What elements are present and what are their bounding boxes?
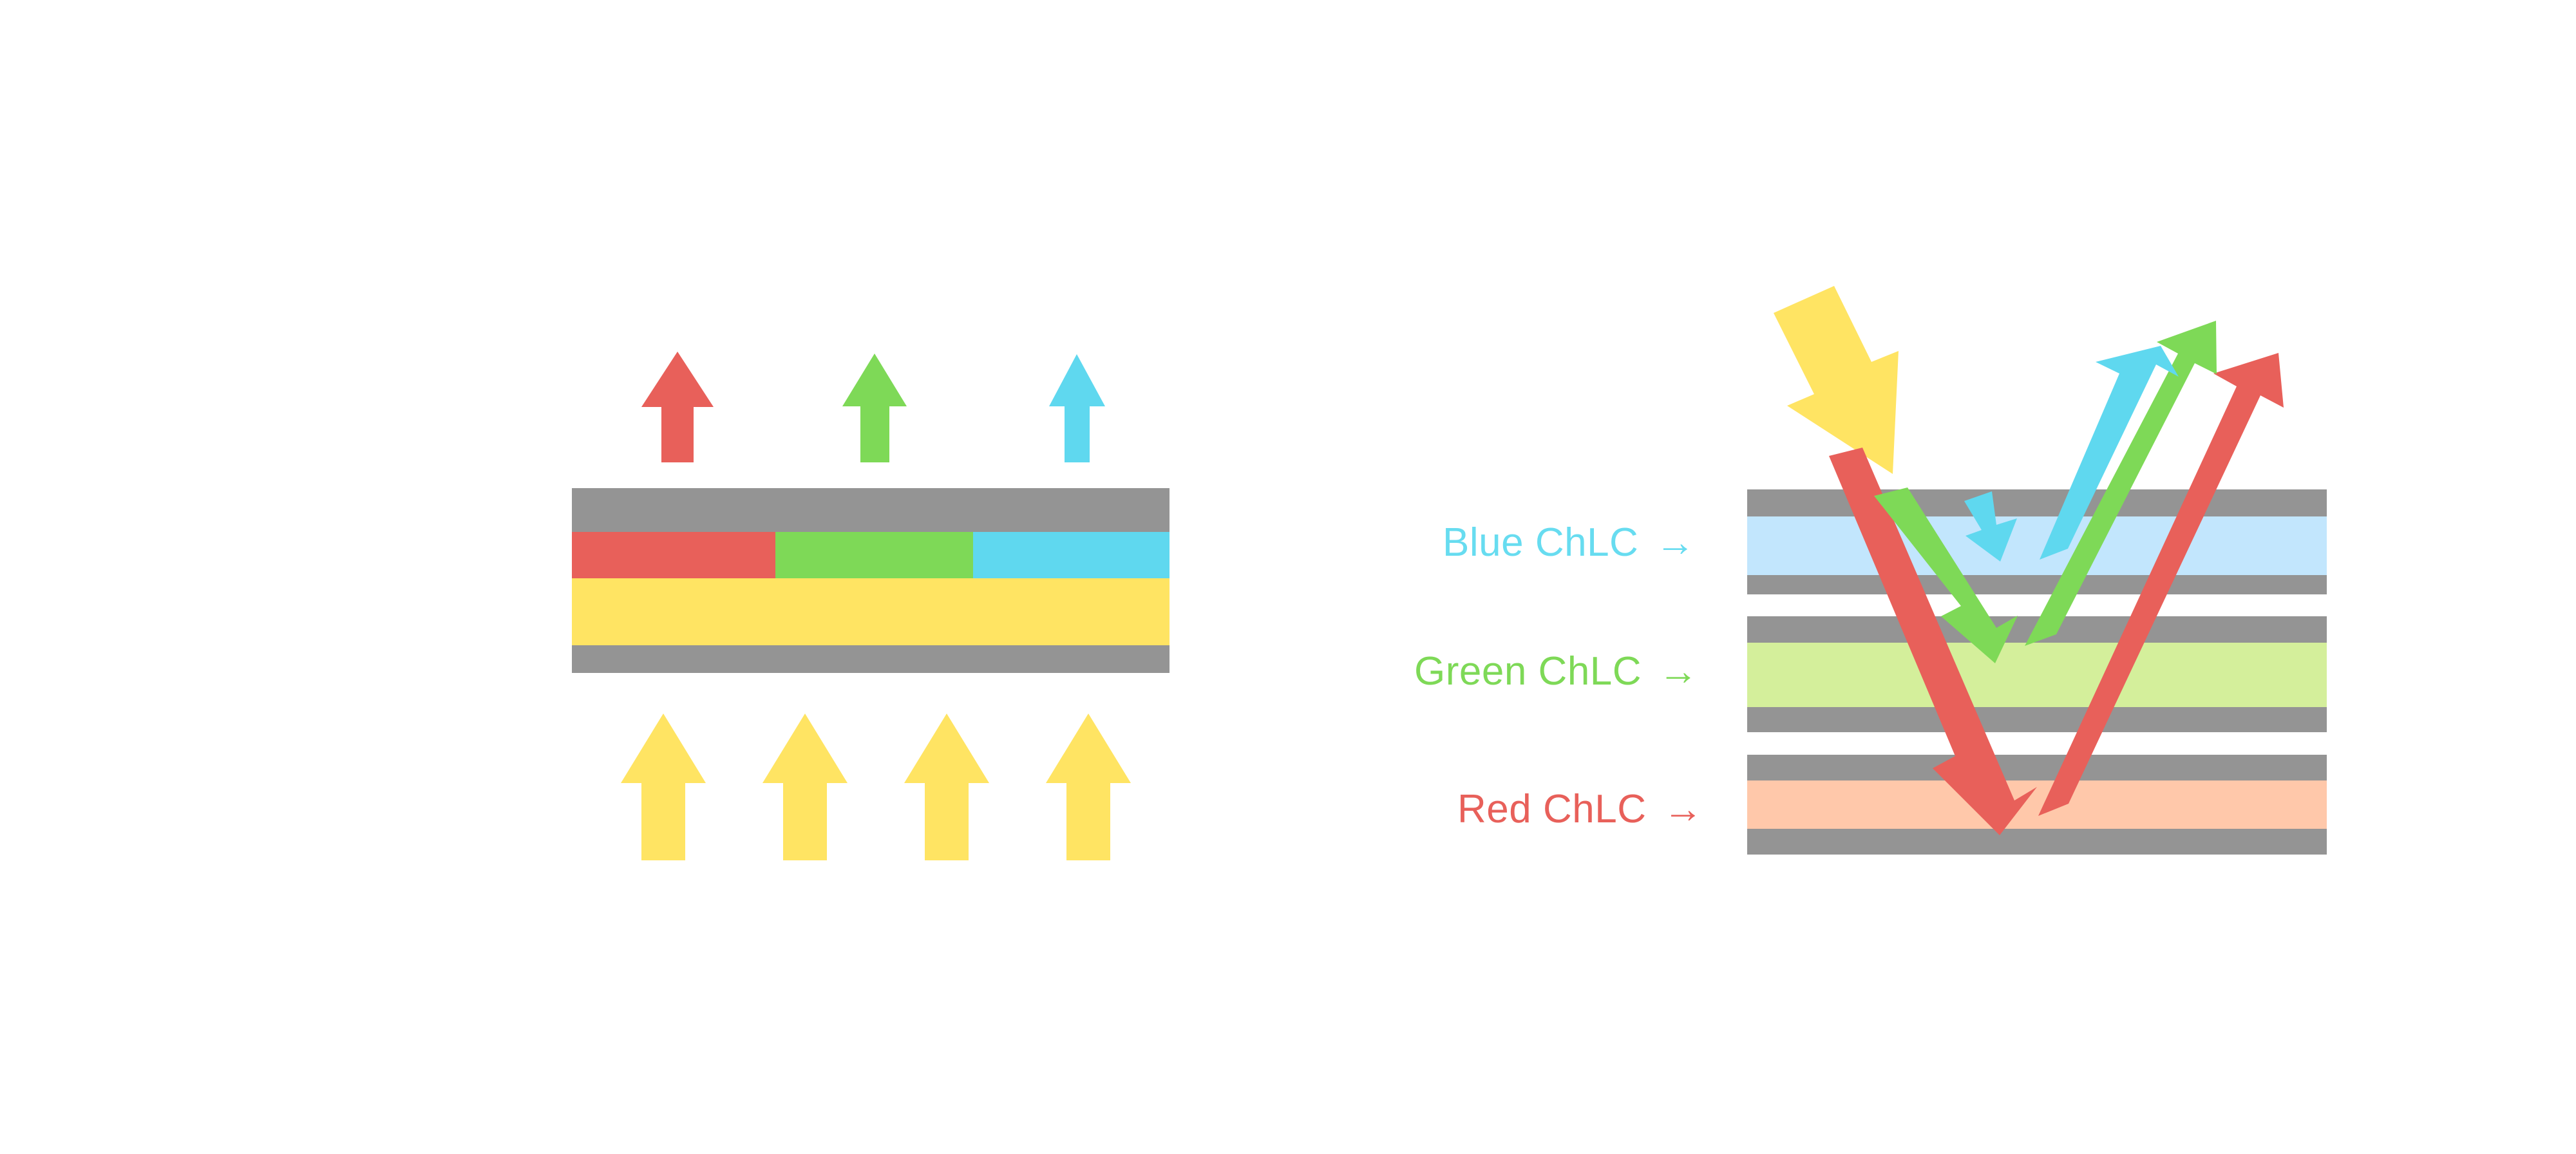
blue-chlc-label-arrow-icon: →: [1655, 520, 1696, 565]
green-bottom-electrode: [1747, 707, 2327, 732]
red-chlc-label: Red ChLC→: [1457, 790, 1703, 829]
blue-bottom-electrode: [1747, 575, 2327, 594]
chlc-stack: [1747, 489, 2327, 855]
blue-chlc-label-text: Blue ChLC: [1443, 520, 1638, 565]
red-chlc-label-text: Red ChLC: [1457, 787, 1646, 831]
diagram-canvas: Blue ChLC→ Green ChLC→ Red ChLC→: [0, 0, 2576, 1154]
ambient-light-arrow: [1774, 286, 1899, 474]
red-chlc-label-arrow-icon: →: [1663, 787, 1703, 831]
red-top-electrode: [1747, 755, 2327, 780]
red-bottom-electrode: [1747, 829, 2327, 855]
green-chlc-label-text: Green ChLC: [1414, 649, 1642, 694]
blue-chlc-label: Blue ChLC→: [1443, 523, 1696, 563]
green-chlc-label-arrow-icon: →: [1658, 649, 1699, 694]
right-panel-reflective-stack: Blue ChLC→ Green ChLC→ Red ChLC→: [0, 0, 2576, 1154]
blue-top-electrode: [1747, 489, 2327, 516]
green-chlc-label: Green ChLC→: [1414, 652, 1699, 692]
green-chlc-layer: [1747, 643, 2327, 707]
blue-chlc-layer: [1747, 516, 2327, 575]
red-chlc-layer: [1747, 780, 2327, 829]
right-panel-graphics: [0, 0, 2576, 1154]
